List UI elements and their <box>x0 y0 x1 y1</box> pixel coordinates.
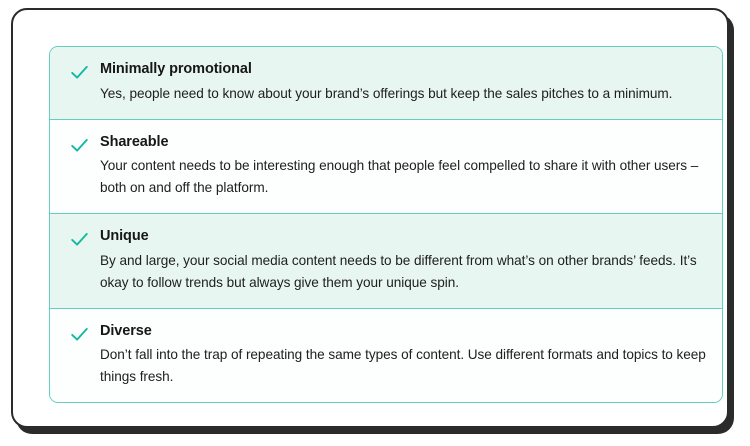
list-item[interactable]: Shareable Your content needs to be inter… <box>50 120 722 215</box>
list-item-title: Unique <box>100 227 706 247</box>
list-item-title: Diverse <box>100 322 706 342</box>
checklist: Minimally promotional Yes, people need t… <box>49 46 723 403</box>
check-icon <box>69 135 90 156</box>
list-item-body: Shareable Your content needs to be inter… <box>100 133 706 200</box>
list-item[interactable]: Unique By and large, your social media c… <box>50 214 722 309</box>
content-frame: Minimally promotional Yes, people need t… <box>11 8 729 428</box>
check-icon <box>69 324 90 345</box>
list-item-description: Your content needs to be interesting eno… <box>100 155 706 199</box>
list-item-description: By and large, your social media content … <box>100 250 706 294</box>
list-item-title: Shareable <box>100 133 706 153</box>
list-item-description: Yes, people need to know about your bran… <box>100 83 706 105</box>
check-icon <box>69 62 90 83</box>
list-item-title: Minimally promotional <box>100 60 706 80</box>
check-icon <box>69 229 90 250</box>
list-item-body: Minimally promotional Yes, people need t… <box>100 60 706 105</box>
screenshot-root: Minimally promotional Yes, people need t… <box>0 0 750 446</box>
list-item[interactable]: Minimally promotional Yes, people need t… <box>50 47 722 120</box>
list-item-body: Unique By and large, your social media c… <box>100 227 706 294</box>
list-item-body: Diverse Don’t fall into the trap of repe… <box>100 322 706 389</box>
list-item[interactable]: Diverse Don’t fall into the trap of repe… <box>50 309 722 403</box>
list-item-description: Don’t fall into the trap of repeating th… <box>100 344 706 388</box>
